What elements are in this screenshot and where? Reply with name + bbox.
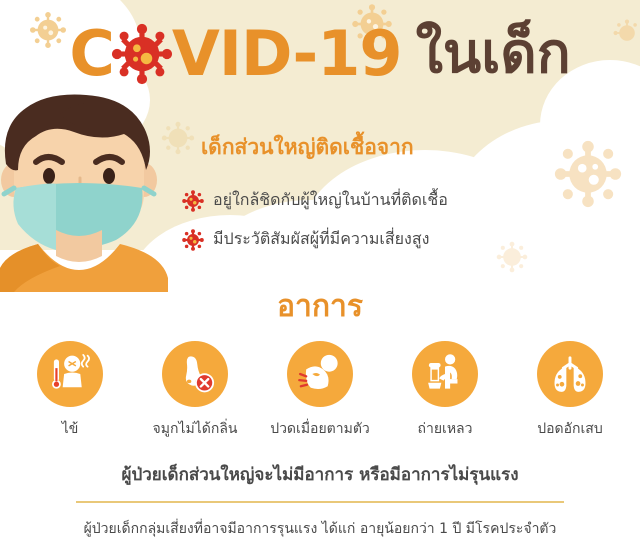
symptom-label: ไข้ [62, 418, 79, 440]
infection-bullet-item: มีประวัติสัมผัสผู้ที่มีความเสี่ยงสูง [182, 227, 429, 252]
infection-bullet-text: มีประวัติสัมผัสผู้ที่มีความเสี่ยงสูง [213, 227, 429, 252]
body-ache-icon [287, 341, 353, 407]
page-title: C VID- [0, 16, 640, 92]
infection-bullet-text: อยู่ใกล้ชิดกับผู้ใหญ่ในบ้านที่ติดเชื้อ [213, 188, 448, 213]
decorative-virus-icon [552, 138, 624, 210]
virus-icon [110, 22, 174, 86]
symptom-label: ปวดเมื่อยตามตัว [270, 418, 370, 440]
primary-note: ผู้ป่วยเด็กส่วนใหญ่จะไม่มีอาการ หรือมีอา… [0, 461, 640, 488]
infection-bullet-item: อยู่ใกล้ชิดกับผู้ใหญ่ในบ้านที่ติดเชื้อ [182, 188, 448, 213]
symptom-item-fever: ไข้ [14, 341, 126, 440]
infographic-poster: C VID- [0, 0, 640, 549]
virus-bullet-icon [182, 229, 204, 251]
symptom-item-body-ache: ปวดเมื่อยตามตัว [264, 341, 376, 440]
boy-with-mask-illustration [0, 92, 172, 292]
decorative-virus-icon [495, 240, 529, 274]
infection-heading: เด็กส่วนใหญ่ติดเชื้อจาก [201, 131, 414, 164]
symptom-item-diarrhea: ถ่ายเหลว [389, 341, 501, 440]
symptoms-heading: อาการ [0, 283, 640, 330]
symptom-label: จมูกไม่ได้กลิ่น [153, 418, 238, 440]
secondary-note: ผู้ป่วยเด็กกลุ่มเสี่ยงที่อาจมีอาการรุนแร… [0, 518, 640, 540]
lungs-icon [537, 341, 603, 407]
title-vid-19: VID-19 [172, 23, 402, 85]
symptom-item-no-smell: จมูกไม่ได้กลิ่น [139, 341, 251, 440]
symptom-label: ปอดอักเสบ [537, 418, 603, 440]
diarrhea-icon [412, 341, 478, 407]
virus-bullet-icon [182, 190, 204, 212]
no-smell-icon [162, 341, 228, 407]
symptoms-row: ไข้ จมูกไม่ได้กลิ่น [14, 341, 626, 440]
title-letter-c: C [69, 23, 114, 85]
symptom-label: ถ่ายเหลว [418, 418, 473, 440]
fever-icon [37, 341, 103, 407]
divider [76, 501, 564, 503]
symptom-item-pneumonia: ปอดอักเสบ [514, 341, 626, 440]
title-thai: ในเด็ก [416, 26, 571, 82]
